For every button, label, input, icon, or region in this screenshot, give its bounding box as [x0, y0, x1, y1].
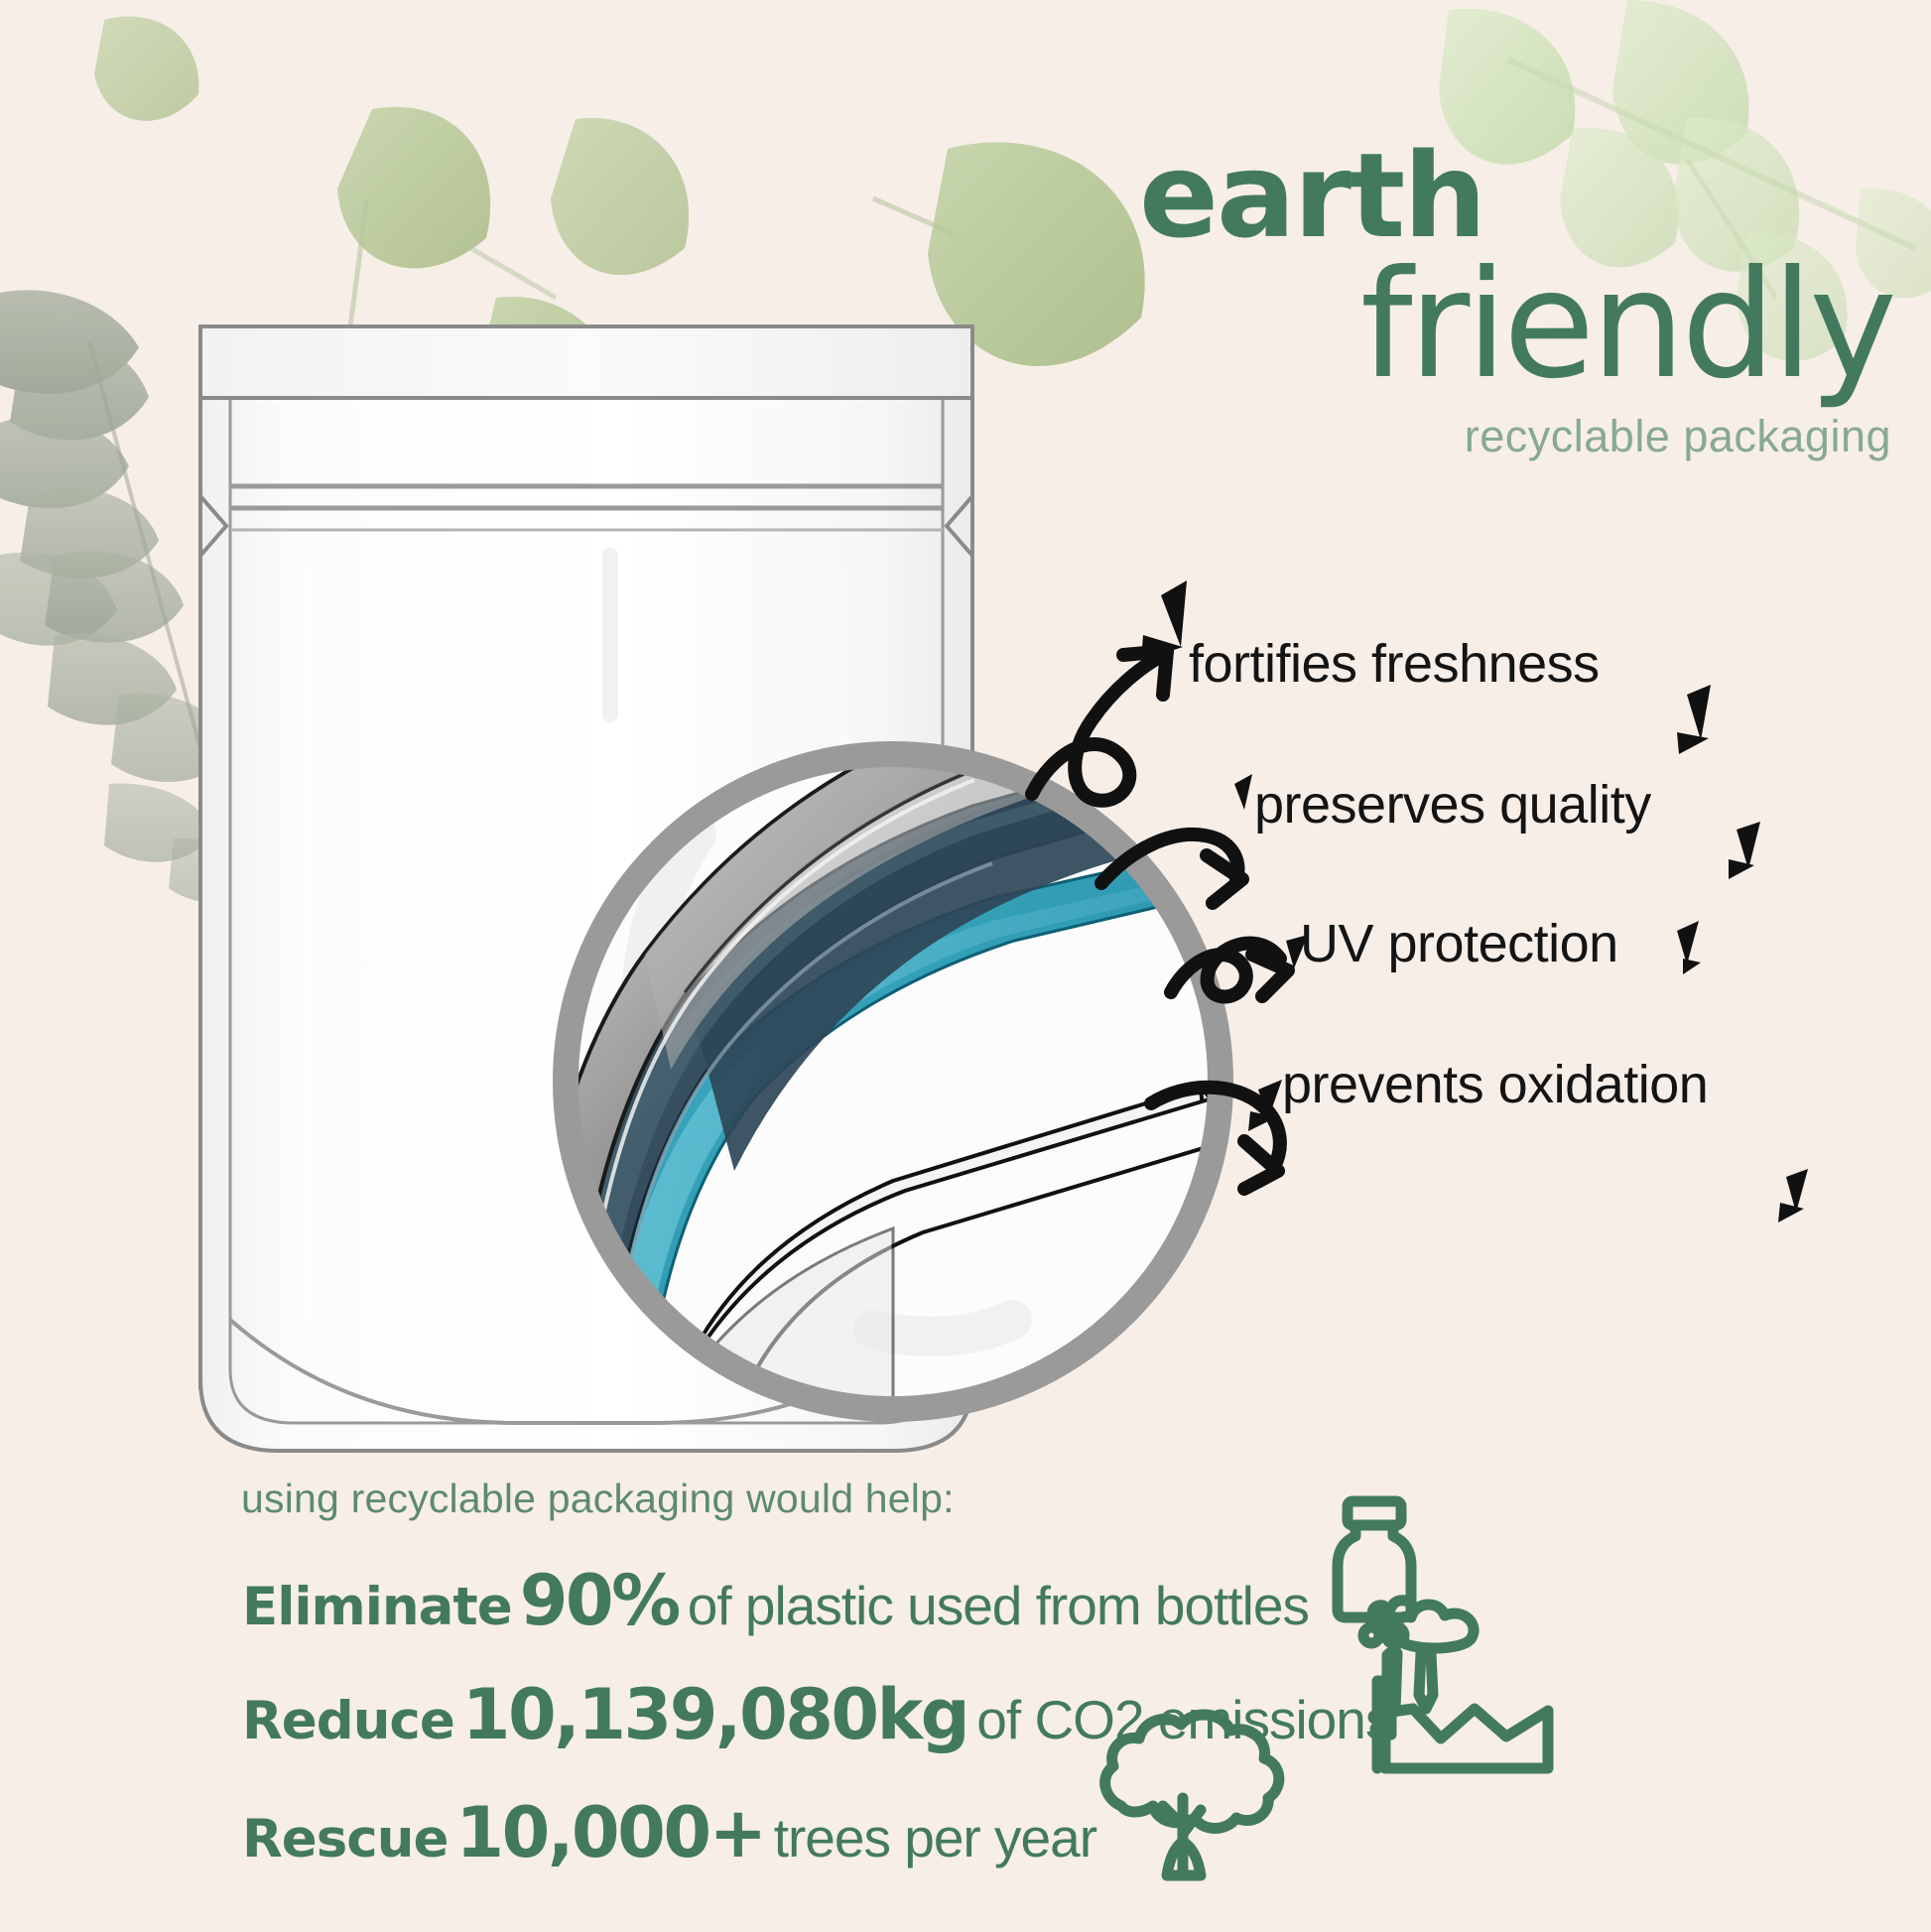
- tree-icon: [1105, 1715, 1279, 1875]
- factory-icon: [1363, 1601, 1548, 1768]
- infographic-poster: earth friendly recyclable packaging fort…: [0, 0, 1931, 1932]
- stat-icon-layer: [0, 0, 1931, 1932]
